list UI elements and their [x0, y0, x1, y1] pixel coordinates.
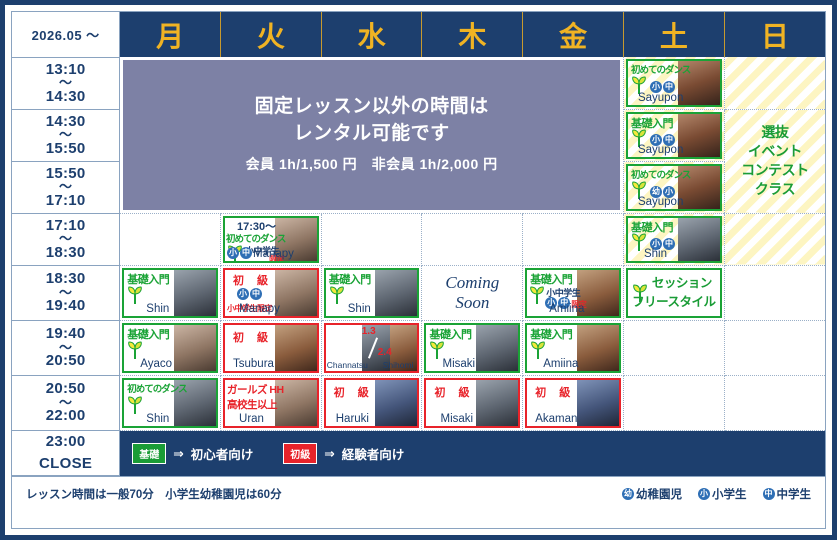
sunday-line3: コンテスト — [741, 161, 809, 180]
time-label-1940: 19:40 ～ 20:50 — [12, 320, 120, 375]
teacher-photo — [577, 380, 619, 426]
footer-grade-legend: 幼 幼稚園児 小 小学生 中 中学生 — [622, 486, 811, 502]
teacher-photo — [476, 380, 518, 426]
cell-sat-1710[interactable]: 基礎入門 小 中 Shin — [623, 213, 724, 265]
row-1710: 17:10 ～ 18:30 17:30～ 初めてのダンス 小中学生 限定 — [12, 213, 825, 265]
class-card-tsubura-1940[interactable]: 初 級 Tsubura — [223, 323, 319, 373]
coming-soon-line1: Coming — [445, 273, 499, 293]
sprout-icon — [127, 341, 143, 359]
legend-item-kiso: 基礎 ⇒ 初心者向け — [132, 443, 253, 464]
notice-price: 会員 1h/1,500 円 非会員 1h/2,000 円 — [246, 154, 498, 174]
teacher-name: Tsubura — [233, 358, 274, 370]
legend-item-shokyu: 初級 ⇒ 経験者向け — [283, 443, 404, 464]
sprout-icon — [632, 284, 648, 302]
cell-sun-special[interactable]: 選抜 イベント コンテスト クラス — [724, 109, 825, 213]
badge-elementary: 小 — [698, 488, 710, 500]
coming-soon-label: Coming Soon — [422, 266, 522, 320]
close-time: 23:00 — [12, 431, 119, 453]
cell-sat-1430[interactable]: 基礎入門 小 中 Sayupon — [623, 109, 724, 161]
split-week-label-2: 2.4 — [378, 347, 392, 358]
class-restriction: 高校生以上 — [227, 397, 277, 412]
weekly-schedule-table: 2026.05 ～ 月 火 水 木 金 土 日 13:10 ～ 14:30 固定… — [12, 12, 825, 476]
badge-elementary: 小 — [237, 288, 249, 300]
cell-thu-1830: Coming Soon — [422, 265, 523, 320]
row-1830: 18:30 ～ 19:40 基礎入門 Shin — [12, 265, 825, 320]
cell-sun-1940 — [724, 320, 825, 375]
sunday-line1: 選抜 — [761, 123, 788, 142]
teacher-name: Misaki — [440, 413, 473, 425]
time-label-1310: 13:10 ～ 14:30 — [12, 57, 120, 109]
cell-mon-1710 — [120, 213, 221, 265]
legend-text-kiso: 初心者向け — [191, 444, 254, 463]
row-2050: 20:50 ～ 22:00 初めてのダンス Shin — [12, 375, 825, 430]
table-header-row: 2026.05 ～ 月 火 水 木 金 土 日 — [12, 12, 825, 57]
cell-tue-1710[interactable]: 17:30～ 初めてのダンス 小中学生 限定 小 中 Manapy — [221, 213, 322, 265]
cell-sun-2050 — [724, 375, 825, 430]
teacher-name: Misaki — [442, 358, 475, 370]
teacher-name: Ayaco — [140, 358, 172, 370]
day-header-thursday: 木 — [422, 12, 523, 57]
sprout-icon — [429, 341, 445, 359]
class-title: 初 級 — [334, 384, 370, 400]
cell-mon-1830[interactable]: 基礎入門 Shin — [120, 265, 221, 320]
period-label: 2026.05 ～ — [12, 12, 120, 57]
footer-grade-label: 中学生 — [777, 486, 812, 502]
rental-notice-cell: 固定レッスン以外の時間は レンタル可能です 会員 1h/1,500 円 非会員 … — [120, 57, 624, 213]
cell-thu-1940[interactable]: 基礎入門 Misaki — [422, 320, 523, 375]
badge-elementary: 小 — [227, 247, 239, 259]
cell-mon-2050[interactable]: 初めてのダンス Shin — [120, 375, 221, 430]
sprout-icon — [127, 396, 143, 414]
day-header-monday: 月 — [120, 12, 221, 57]
cell-thu-2050[interactable]: 初 級 Misaki — [422, 375, 523, 430]
footer-grade-label: 幼稚園児 — [636, 486, 682, 502]
teacher-photo — [174, 270, 216, 316]
time-label-1710: 17:10 ～ 18:30 — [12, 213, 120, 265]
teacher-photo — [678, 218, 720, 261]
footer-grade-elementary: 小 小学生 — [698, 486, 747, 502]
cell-tue-2050[interactable]: ガールズ HH 高校生以上 Uran — [221, 375, 322, 430]
time-label-2050: 20:50 ～ 22:00 — [12, 375, 120, 430]
teacher-photo — [275, 325, 317, 371]
class-card-misaki-2050[interactable]: 初 級 Misaki — [424, 378, 520, 428]
cell-sun-1310 — [724, 57, 825, 109]
notice-line2: レンタル可能です — [294, 122, 450, 147]
class-card-manapy-1710[interactable]: 17:30～ 初めてのダンス 小中学生 限定 小 中 Manapy — [223, 216, 319, 263]
class-card-shin-1710[interactable]: 基礎入門 小 中 Shin — [626, 216, 722, 263]
poster-inner-frame: 2026.05 ～ 月 火 水 木 金 土 日 13:10 ～ 14:30 固定… — [11, 11, 826, 529]
legend-arrow-kiso: ⇒ — [173, 446, 183, 461]
cell-sat-1310[interactable]: 初めてのダンス 小 中 Sayupon — [623, 57, 724, 109]
footer-bar: レッスン時間は一般70分 小学生幼稚園児は60分 幼 幼稚園児 小 小学生 中 … — [12, 476, 825, 510]
teacher-photo — [678, 114, 720, 157]
day-header-wednesday: 水 — [321, 12, 422, 57]
teacher-name: Shin — [146, 303, 169, 315]
day-header-sunday: 日 — [724, 12, 825, 57]
row-1940: 19:40 ～ 20:50 基礎入門 Ayaco — [12, 320, 825, 375]
class-card-amiina-1830[interactable]: 基礎入門 小中学生 小 中 限定 Amiina — [525, 268, 621, 318]
day-header-tuesday: 火 — [221, 12, 322, 57]
class-title: 基礎入門 — [127, 271, 169, 287]
day-header-friday: 金 — [523, 12, 624, 57]
class-title: 基礎入門 — [329, 271, 371, 287]
badge-kindergarten: 幼 — [622, 488, 634, 500]
class-card-misaki-1940[interactable]: 基礎入門 Misaki — [424, 323, 520, 373]
row-close: 23:00 CLOSE 基礎 ⇒ 初心者向け 初級 ⇒ 経験者向け — [12, 430, 825, 476]
time-end: 14:30 — [46, 88, 86, 105]
teacher-name: Amiina — [543, 358, 578, 370]
class-card-amiina-1940[interactable]: 基礎入門 Amiina — [525, 323, 621, 373]
class-title: 基礎入門 — [429, 326, 471, 342]
class-card-uran-2050[interactable]: ガールズ HH 高校生以上 Uran — [223, 378, 319, 428]
legend-arrow-shokyu: ⇒ — [324, 446, 334, 461]
teacher-photo — [577, 325, 619, 371]
teacher-photo — [375, 380, 417, 426]
class-card-sayupon-1310[interactable]: 初めてのダンス 小 中 Sayupon — [626, 59, 722, 107]
close-time-label: 23:00 CLOSE — [12, 430, 120, 476]
time-end: 17:10 — [46, 192, 86, 209]
class-title: 初 級 — [233, 329, 269, 345]
teacher-photo — [174, 325, 216, 371]
teacher-name-1: Channatsu — [327, 360, 368, 370]
class-title: 初 級 — [535, 384, 571, 400]
teacher-name: Sayupon — [638, 196, 683, 208]
cell-sun-1710 — [724, 213, 825, 265]
split-week-label-1: 1.3 — [362, 326, 376, 337]
legend-chip-shokyu: 初級 — [283, 443, 317, 464]
time-label-1430: 14:30 ～ 15:50 — [12, 109, 120, 161]
badge-middle: 中 — [763, 488, 775, 500]
cell-wed-2050[interactable]: 初 級 Haruki — [321, 375, 422, 430]
time-end: 19:40 — [46, 297, 86, 314]
class-title: 初めてのダンス — [226, 231, 285, 245]
time-end: 18:30 — [46, 244, 86, 261]
sprout-icon — [329, 286, 345, 304]
sunday-special-text: 選抜 イベント コンテスト クラス — [725, 110, 825, 213]
grade-badges: 小 中 — [237, 288, 262, 300]
notice-line1: 固定レッスン以外の時間は — [255, 95, 489, 120]
teacher-name-2: Shihomi — [383, 360, 414, 370]
cell-sun-1830 — [724, 265, 825, 320]
coming-soon-line2: Soon — [455, 293, 489, 313]
class-card-sayupon-1550[interactable]: 初めてのダンス 幼 小 Sayupon — [626, 164, 722, 211]
cell-fri-1940[interactable]: 基礎入門 Amiina — [523, 320, 624, 375]
class-title: ガールズ HH — [227, 382, 284, 397]
class-card-manapy-1830[interactable]: 初 級 小 中 小中学生限定 Manapy — [223, 268, 319, 318]
class-title: 初 級 — [434, 384, 470, 400]
time-label-1830: 18:30 ～ 19:40 — [12, 265, 120, 320]
session-freestyle-card[interactable]: セッション フリースタイル — [626, 268, 722, 318]
cell-tue-1940[interactable]: 初 級 Tsubura — [221, 320, 322, 375]
class-card-ayaco-1940[interactable]: 基礎入門 Ayaco — [122, 323, 218, 373]
teacher-name: Manapy — [253, 248, 294, 260]
rental-notice: 固定レッスン以外の時間は レンタル可能です 会員 1h/1,500 円 非会員 … — [123, 60, 620, 210]
class-card-haruki-2050[interactable]: 初 級 Haruki — [324, 378, 420, 428]
cell-wed-1940[interactable]: 1.3 2.4 Channatsu Shihomi — [321, 320, 422, 375]
teacher-name: Sayupon — [638, 144, 683, 156]
class-card-channatsu-shihomi-1940[interactable]: 1.3 2.4 Channatsu Shihomi — [324, 323, 420, 373]
cell-fri-2050[interactable]: 初 級 Akaman — [523, 375, 624, 430]
badge-middle: 中 — [240, 247, 252, 259]
class-title: 初めてのダンス — [631, 167, 690, 181]
class-title: 基礎入門 — [127, 326, 169, 342]
legend-bar: 基礎 ⇒ 初心者向け 初級 ⇒ 経験者向け — [120, 431, 825, 476]
class-card-shin-1830-wed[interactable]: 基礎入門 Shin — [324, 268, 420, 318]
class-card-akaman-2050[interactable]: 初 級 Akaman — [525, 378, 621, 428]
time-end: 20:50 — [46, 352, 86, 369]
class-title: 初めてのダンス — [631, 62, 690, 76]
sprout-icon — [530, 341, 546, 359]
legend-cell: 基礎 ⇒ 初心者向け 初級 ⇒ 経験者向け — [120, 430, 825, 476]
schedule-poster: 2026.05 ～ 月 火 水 木 金 土 日 13:10 ～ 14:30 固定… — [0, 0, 837, 540]
cell-mon-1940[interactable]: 基礎入門 Ayaco — [120, 320, 221, 375]
sunday-line4: クラス — [755, 180, 795, 199]
cell-thu-1710 — [422, 213, 523, 265]
footer-grade-kindergarten: 幼 幼稚園児 — [622, 486, 682, 502]
grade-badges: 小 中 — [227, 247, 252, 259]
legend-chip-kiso: 基礎 — [132, 443, 166, 464]
class-title: 基礎入門 — [530, 326, 572, 342]
teacher-name: Manapy — [239, 303, 280, 315]
row-1310: 13:10 ～ 14:30 固定レッスン以外の時間は レンタル可能です 会員 1… — [12, 57, 825, 109]
cell-wed-1830[interactable]: 基礎入門 Shin — [321, 265, 422, 320]
cell-sat-1940 — [623, 320, 724, 375]
class-title: 基礎入門 — [530, 271, 572, 287]
sunday-line2: イベント — [748, 142, 802, 161]
time-end: 22:00 — [46, 407, 86, 424]
teacher-photo — [375, 270, 417, 316]
time-end: 15:50 — [46, 140, 86, 157]
cell-fri-1830[interactable]: 基礎入門 小中学生 小 中 限定 Amiina — [523, 265, 624, 320]
teacher-name: Shin — [146, 413, 169, 425]
badge-middle: 中 — [250, 288, 262, 300]
cell-sat-1550[interactable]: 初めてのダンス 幼 小 Sayupon — [623, 161, 724, 213]
teacher-name: Akaman — [535, 413, 577, 425]
time-label-1550: 15:50 ～ 17:10 — [12, 161, 120, 213]
teacher-name: Shin — [348, 303, 371, 315]
footer-note: レッスン時間は一般70分 小学生幼稚園児は60分 — [26, 486, 282, 502]
legend-text-shokyu: 経験者向け — [342, 444, 405, 463]
class-card-shin-2050[interactable]: 初めてのダンス Shin — [122, 378, 218, 428]
teacher-photo — [275, 270, 317, 316]
teacher-name: Haruki — [336, 413, 369, 425]
sprout-icon — [127, 286, 143, 304]
teacher-name: Shin — [644, 248, 667, 260]
cell-tue-1830[interactable]: 初 級 小 中 小中学生限定 Manapy — [221, 265, 322, 320]
teacher-name: Sayupon — [638, 92, 683, 104]
cell-fri-1710 — [523, 213, 624, 265]
class-card-shin-1830[interactable]: 基礎入門 Shin — [122, 268, 218, 318]
footer-grade-label: 小学生 — [712, 486, 747, 502]
cell-sat-2050 — [623, 375, 724, 430]
footer-grade-middle: 中 中学生 — [763, 486, 812, 502]
cell-wed-1710 — [321, 213, 422, 265]
class-card-sayupon-1430[interactable]: 基礎入門 小 中 Sayupon — [626, 112, 722, 159]
day-header-saturday: 土 — [623, 12, 724, 57]
cell-sat-1830[interactable]: セッション フリースタイル — [623, 265, 724, 320]
class-title: 初めてのダンス — [127, 381, 186, 395]
sprout-icon — [529, 286, 545, 304]
teacher-name: Amiina — [549, 303, 584, 315]
close-label: CLOSE — [12, 453, 119, 475]
teacher-name: Uran — [239, 413, 264, 425]
class-title: 初 級 — [233, 272, 269, 288]
teacher-photo — [476, 325, 518, 371]
